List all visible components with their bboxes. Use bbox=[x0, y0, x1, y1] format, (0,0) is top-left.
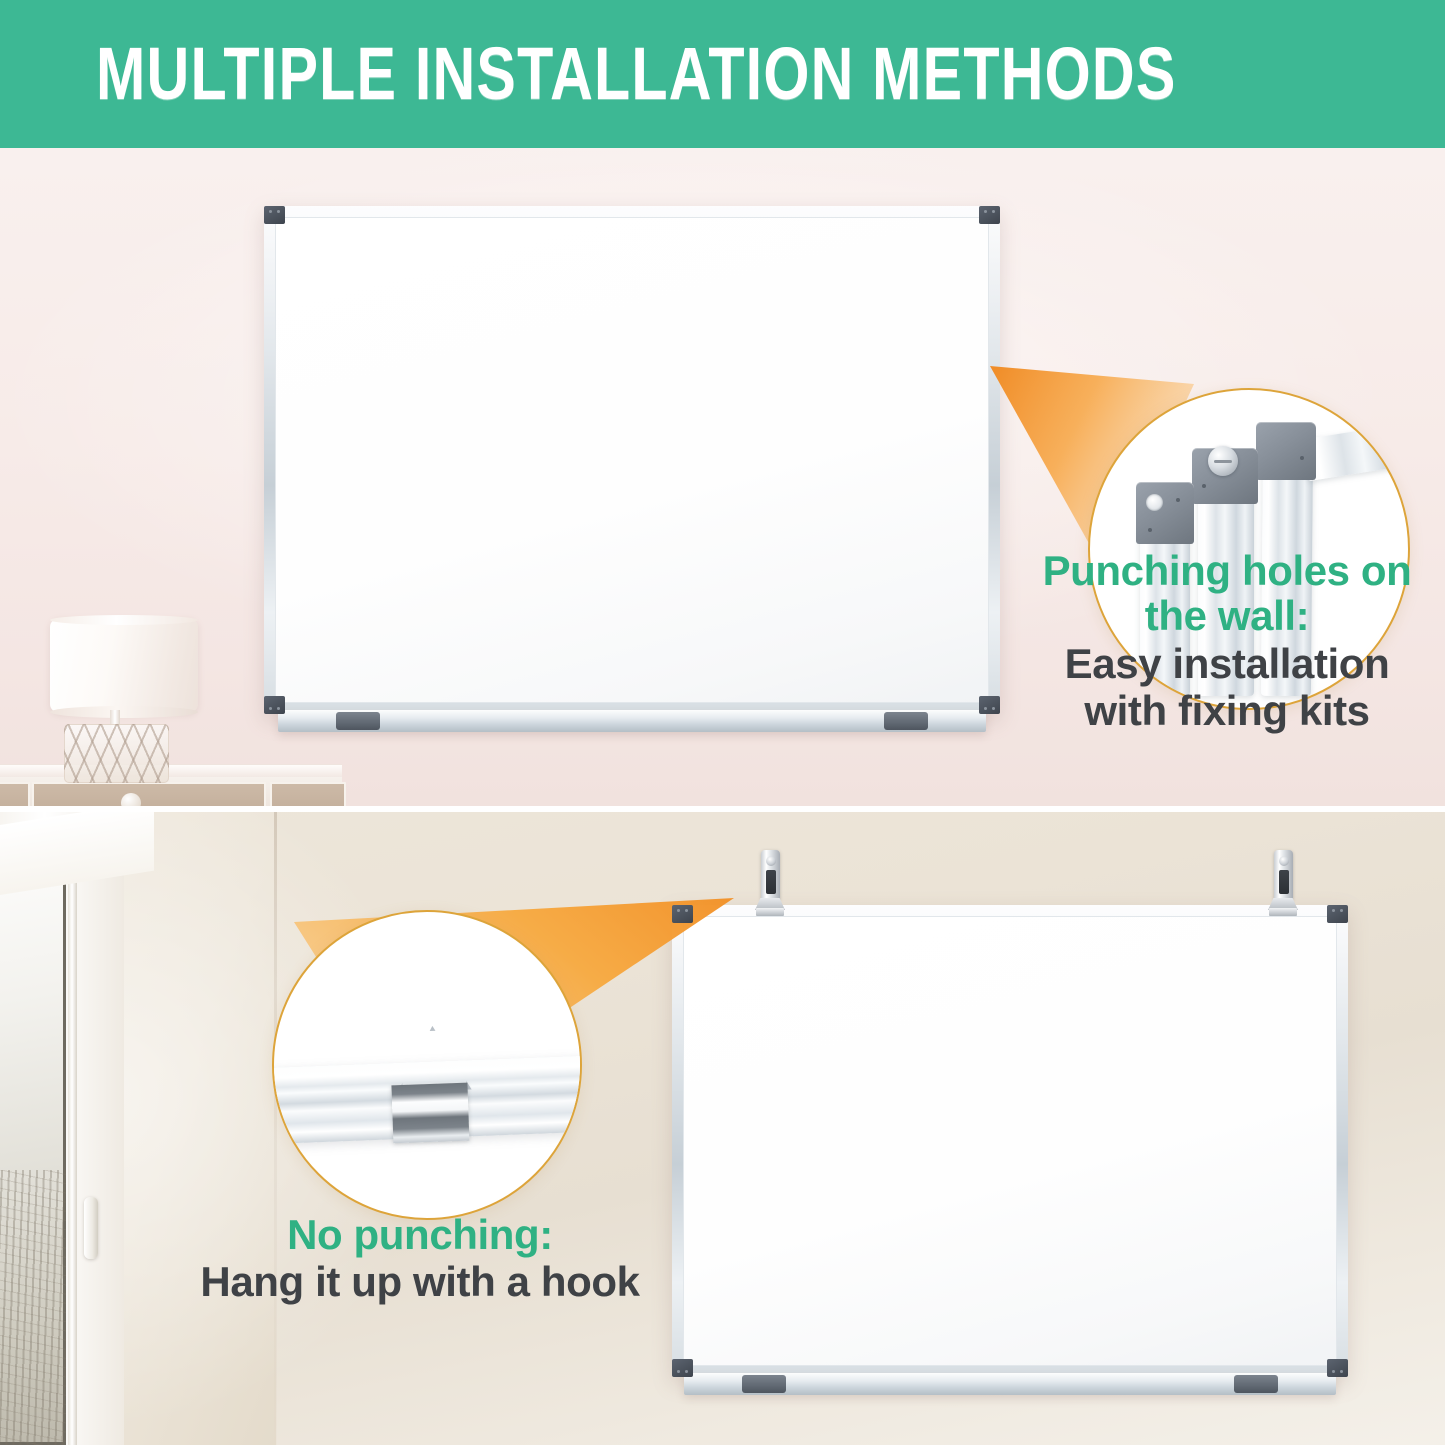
console-drawer bbox=[270, 782, 346, 806]
callout-hanging-bracket-detail bbox=[272, 910, 582, 1220]
panel-punching-holes: Punching holes on the wall: Easy install… bbox=[0, 148, 1445, 806]
caption-body-line: Hang it up with a hook bbox=[160, 1259, 680, 1304]
console-drawer bbox=[32, 782, 266, 806]
hook-slot bbox=[1279, 870, 1289, 894]
whiteboard-frame bbox=[264, 206, 1000, 714]
panel-no-punching: No punching: Hang it up with a hook bbox=[0, 812, 1445, 1445]
pen-tray bbox=[278, 710, 986, 732]
caption-no-punching: No punching: Hang it up with a hook bbox=[160, 1212, 680, 1305]
door-handle bbox=[84, 1197, 98, 1259]
frame-corner-cap bbox=[672, 905, 693, 923]
pen-tray bbox=[684, 1373, 1336, 1395]
table-lamp bbox=[24, 618, 204, 783]
caption-accent-line: No punching: bbox=[160, 1212, 680, 1257]
whiteboard-surface bbox=[683, 916, 1337, 1366]
console-drawer bbox=[0, 782, 30, 806]
hook-screw bbox=[1279, 856, 1289, 866]
caption-body-line: with fixing kits bbox=[1022, 688, 1432, 733]
panel-divider bbox=[0, 806, 1445, 812]
product-infographic: MULTIPLE INSTALLATION METHODS bbox=[0, 0, 1445, 1445]
frame-corner-cap bbox=[264, 696, 285, 714]
mounting-screw bbox=[1208, 446, 1238, 476]
header-banner: MULTIPLE INSTALLATION METHODS bbox=[0, 0, 1445, 148]
caption-body-line: Easy installation bbox=[1022, 641, 1432, 686]
caption-accent-line: Punching holes on bbox=[1022, 548, 1432, 593]
pen-tray-end-cap bbox=[336, 712, 380, 730]
lamp-shade bbox=[50, 618, 198, 713]
whiteboard-top bbox=[264, 206, 1000, 714]
frame-corner-cap bbox=[264, 206, 285, 224]
bracket-plate bbox=[391, 1083, 469, 1144]
wall-hook-right bbox=[1268, 850, 1298, 922]
wall-hook-left bbox=[755, 850, 785, 922]
hanging-bracket bbox=[391, 1059, 470, 1144]
frame-corner-cap bbox=[1327, 1359, 1348, 1377]
pen-tray-end-cap bbox=[884, 712, 928, 730]
whiteboard-surface bbox=[275, 217, 989, 703]
door-glass bbox=[0, 848, 66, 1445]
frame-corner-cap bbox=[979, 206, 1000, 224]
hook-screw bbox=[766, 856, 776, 866]
lamp-wire-base bbox=[64, 724, 169, 783]
caption-punching-holes: Punching holes on the wall: Easy install… bbox=[1022, 548, 1432, 733]
frame-rail-horizontal bbox=[1301, 421, 1410, 482]
frame-corner-cap bbox=[1327, 905, 1348, 923]
pen-tray-end-cap bbox=[742, 1375, 786, 1393]
drawer-knob bbox=[121, 793, 141, 806]
mounting-hole bbox=[1146, 494, 1163, 511]
frame-corner-cap bbox=[672, 1359, 693, 1377]
whiteboard-bottom bbox=[672, 905, 1348, 1377]
page-title: MULTIPLE INSTALLATION METHODS bbox=[96, 37, 1177, 111]
whiteboard-frame bbox=[672, 905, 1348, 1377]
frame-corner-cap-front bbox=[1136, 482, 1194, 544]
frame-corner-cap bbox=[979, 696, 1000, 714]
pen-tray-end-cap bbox=[1234, 1375, 1278, 1393]
caption-accent-line: the wall: bbox=[1022, 593, 1432, 638]
hook-slot bbox=[766, 870, 776, 894]
frame-corner-cap-back bbox=[1256, 422, 1316, 480]
door-mullion bbox=[68, 836, 77, 1445]
glass-door bbox=[0, 812, 124, 1445]
